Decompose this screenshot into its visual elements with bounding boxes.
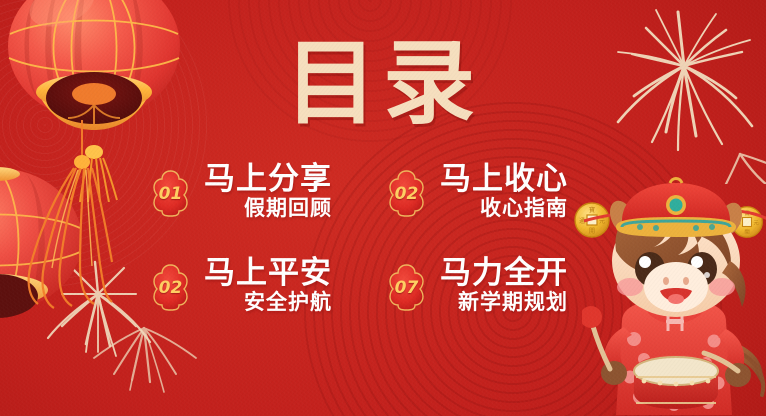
page-title: 目录 xyxy=(0,38,766,130)
horse-drummer-mascot xyxy=(582,177,766,416)
menu-item-number: 01 xyxy=(146,169,195,218)
menu-item-title: 马上分享 xyxy=(204,162,332,196)
menu-item-4[interactable]: 07 马力全开 新学期规划 xyxy=(382,254,610,342)
menu-item-texts: 马力全开 新学期规划 xyxy=(440,254,568,315)
contents-menu: 01 马上分享 假期回顾 02 马上收心 收心指南 xyxy=(146,160,616,340)
menu-item-number: 02 xyxy=(146,263,195,312)
menu-item-title: 马力全开 xyxy=(440,256,568,290)
menu-item-subtitle: 安全护航 xyxy=(204,290,332,315)
menu-item-3[interactable]: 02 马上平安 安全护航 xyxy=(146,254,374,342)
number-badge: 02 xyxy=(382,169,431,218)
menu-item-texts: 马上收心 收心指南 xyxy=(440,160,568,221)
menu-item-number: 02 xyxy=(382,169,431,218)
red-lantern-icon xyxy=(0,120,134,365)
menu-item-texts: 马上平安 安全护航 xyxy=(204,254,332,315)
slide-title-container: 目录 xyxy=(0,38,766,130)
number-badge: 01 xyxy=(146,169,195,218)
menu-item-number: 07 xyxy=(382,263,431,312)
menu-item-texts: 马上分享 假期回顾 xyxy=(204,160,332,221)
slide-canvas: 目录 01 马上分享 假期回顾 xyxy=(0,0,766,416)
number-badge: 07 xyxy=(382,263,431,312)
number-badge: 02 xyxy=(146,263,195,312)
menu-item-subtitle: 新学期规划 xyxy=(440,290,568,315)
menu-item-1[interactable]: 01 马上分享 假期回顾 xyxy=(146,160,374,248)
menu-item-subtitle: 假期回顾 xyxy=(204,196,332,221)
menu-item-title: 马上收心 xyxy=(440,162,568,196)
menu-item-subtitle: 收心指南 xyxy=(440,196,568,221)
menu-item-title: 马上平安 xyxy=(204,256,332,290)
